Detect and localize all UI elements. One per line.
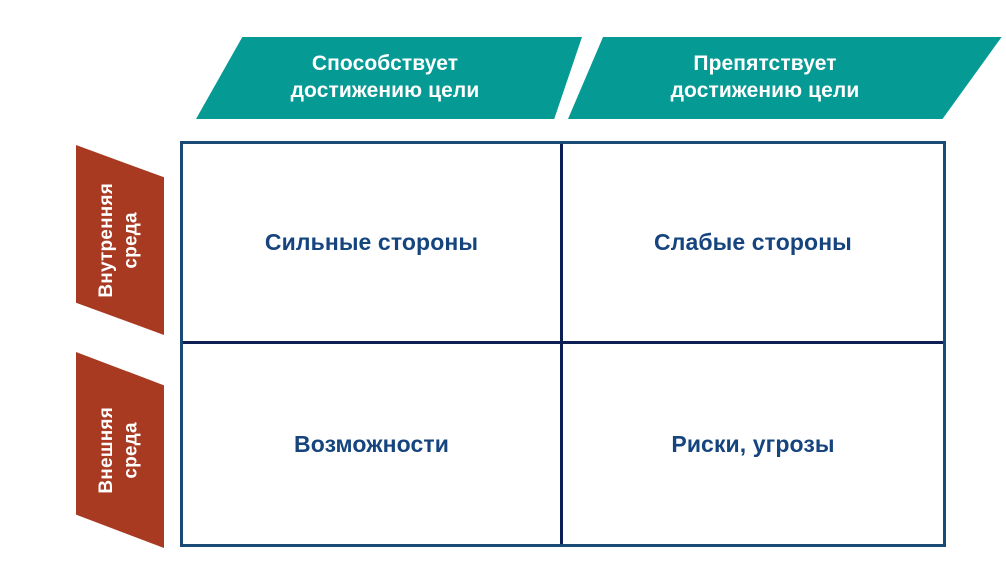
cell-weaknesses-label: Слабые стороны bbox=[654, 229, 852, 256]
cell-weaknesses: Слабые стороны bbox=[563, 144, 943, 341]
column-header-harmful-label: Препятствует достижению цели bbox=[671, 51, 860, 105]
row-header-internal-environment: Внутренняя среда bbox=[76, 145, 164, 335]
cell-strengths-label: Сильные стороны bbox=[265, 229, 478, 256]
cell-opportunities: Возможности bbox=[183, 344, 563, 544]
cell-threats: Риски, угрозы bbox=[563, 344, 943, 544]
cell-strengths: Сильные стороны bbox=[183, 144, 563, 341]
column-header-harmful: Препятствует достижению цели bbox=[568, 37, 1006, 119]
row-header-external-environment: Внешняя среда bbox=[76, 352, 164, 548]
swot-matrix-diagram: Способствует достижению цели Препятствуе… bbox=[0, 0, 1006, 588]
row-header-external-environment-label: Внешняя среда bbox=[95, 407, 144, 494]
matrix-row: Сильные стороны Слабые стороны bbox=[183, 144, 943, 344]
row-header-internal-environment-label: Внутренняя среда bbox=[95, 183, 144, 298]
column-header-helpful-label: Способствует достижению цели bbox=[291, 51, 480, 105]
column-header-helpful: Способствует достижению цели bbox=[196, 37, 582, 119]
cell-opportunities-label: Возможности bbox=[294, 431, 449, 458]
matrix-row: Возможности Риски, угрозы bbox=[183, 344, 943, 544]
matrix-grid: Сильные стороны Слабые стороны Возможнос… bbox=[180, 141, 946, 547]
cell-threats-label: Риски, угрозы bbox=[671, 431, 834, 458]
